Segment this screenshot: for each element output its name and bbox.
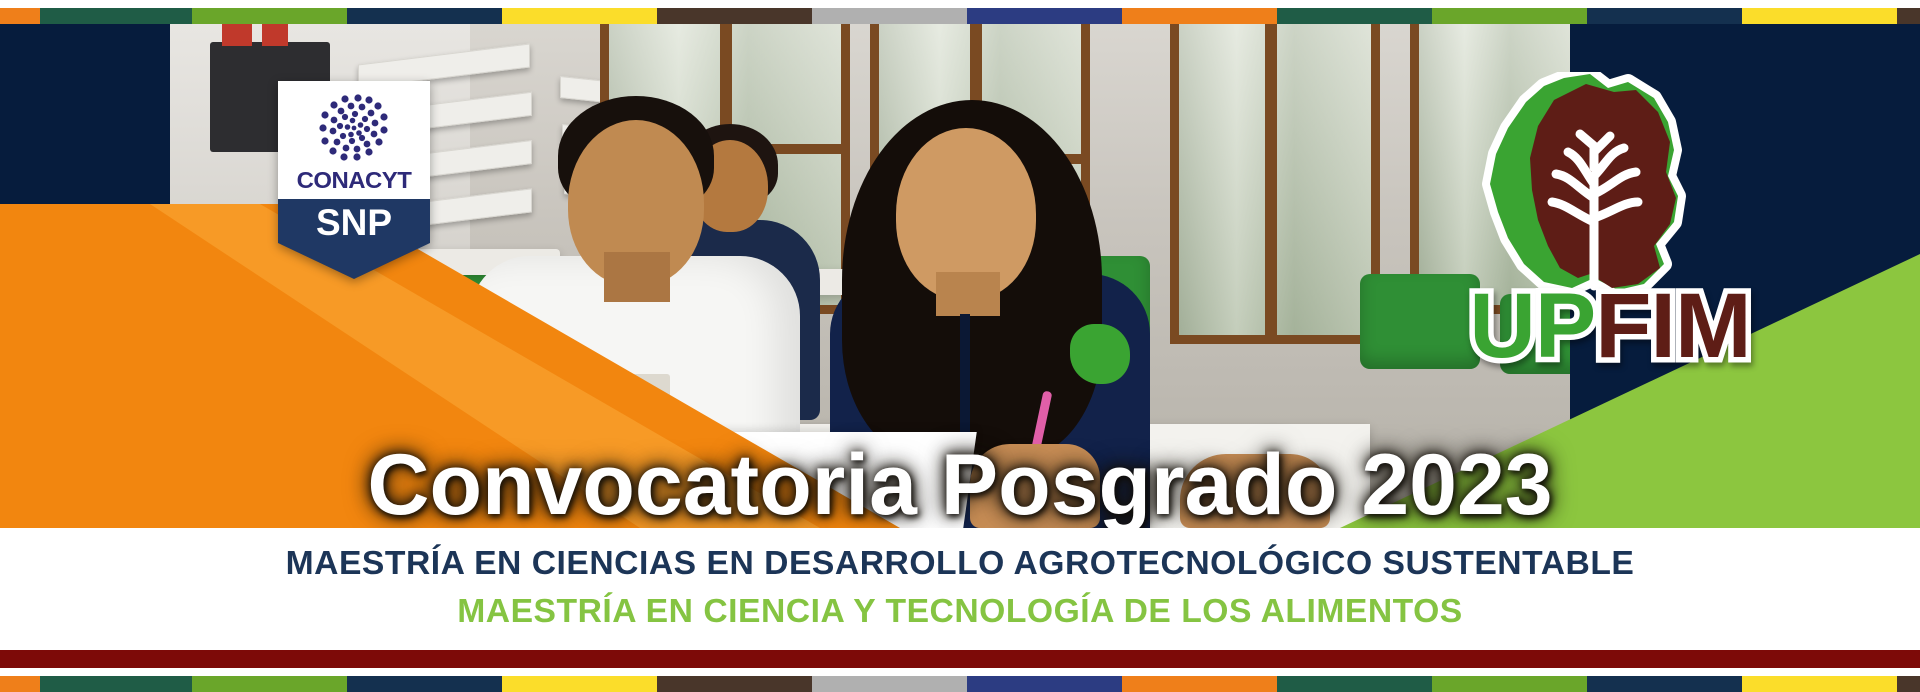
upfim-wordmark-fim: FIM (1595, 275, 1750, 377)
bottom-stripe-segment (192, 676, 347, 692)
top-stripe-segment (1277, 8, 1432, 24)
conacyt-dot-spiral-icon (304, 89, 404, 167)
top-stripe-bar (0, 8, 1920, 24)
white-gap (0, 668, 1920, 676)
bottom-stripe-segment (0, 676, 40, 692)
bottom-stripe-segment (967, 676, 1122, 692)
snp-wordmark: SNP (278, 202, 430, 244)
photo-person-left-neck (604, 252, 670, 302)
photo-polo-placket (960, 314, 970, 434)
conacyt-snp-logo: CONACYT SNP (278, 81, 430, 261)
bottom-stripe-segment (502, 676, 657, 692)
subtitle-line-1: MAESTRÍA EN CIENCIAS EN DESARROLLO AGROT… (0, 544, 1920, 582)
poster-banner-page: CONACYT SNP (0, 0, 1920, 692)
upfim-tree-map-icon (1468, 72, 1708, 297)
conacyt-wordmark: CONACYT (275, 167, 433, 194)
top-stripe-segment (347, 8, 502, 24)
bottom-stripe-segment (1122, 676, 1277, 692)
top-stripe-segment (0, 8, 40, 24)
bottom-stripe-segment (812, 676, 967, 692)
upfim-wordmark: UPFIM (1430, 280, 1790, 372)
top-stripe-segment (812, 8, 967, 24)
bottom-stripe-segment (347, 676, 502, 692)
bottom-stripe-segment (40, 676, 192, 692)
hero-banner: CONACYT SNP (0, 24, 1920, 528)
photo-wall-panel-2 (262, 24, 288, 46)
photo-wall-panel (222, 24, 252, 46)
upfim-logo: UPFIM (1430, 72, 1790, 372)
top-stripe-segment (1122, 8, 1277, 24)
dark-red-divider-bar (0, 650, 1920, 668)
subtitle-band: MAESTRÍA EN CIENCIAS EN DESARROLLO AGROT… (0, 528, 1920, 648)
top-stripe-segment (1742, 8, 1897, 24)
subtitle-line-2: MAESTRÍA EN CIENCIA Y TECNOLOGÍA DE LOS … (0, 592, 1920, 630)
photo-person-right-neck (936, 272, 1000, 316)
bottom-stripe-segment (1742, 676, 1897, 692)
top-stripe-segment (192, 8, 347, 24)
bottom-stripe-segment (1587, 676, 1742, 692)
bottom-stripe-segment (1432, 676, 1587, 692)
bottom-stripe-segment (1277, 676, 1432, 692)
top-stripe-segment (1432, 8, 1587, 24)
bottom-stripe-segment (657, 676, 812, 692)
photo-polo-logo (1070, 324, 1130, 384)
top-stripe-segment (502, 8, 657, 24)
banner-title: Convocatoria Posgrado 2023 (0, 442, 1920, 528)
bottom-stripe-segment (1897, 676, 1920, 692)
top-stripe-segment (1897, 8, 1920, 24)
top-stripe-segment (657, 8, 812, 24)
top-stripe-segment (1587, 8, 1742, 24)
photo-window-mullion (1265, 24, 1277, 344)
bottom-stripe-bar (0, 676, 1920, 692)
top-stripe-segment (40, 8, 192, 24)
top-stripe-segment (967, 8, 1122, 24)
upfim-wordmark-up: UP (1469, 275, 1595, 377)
